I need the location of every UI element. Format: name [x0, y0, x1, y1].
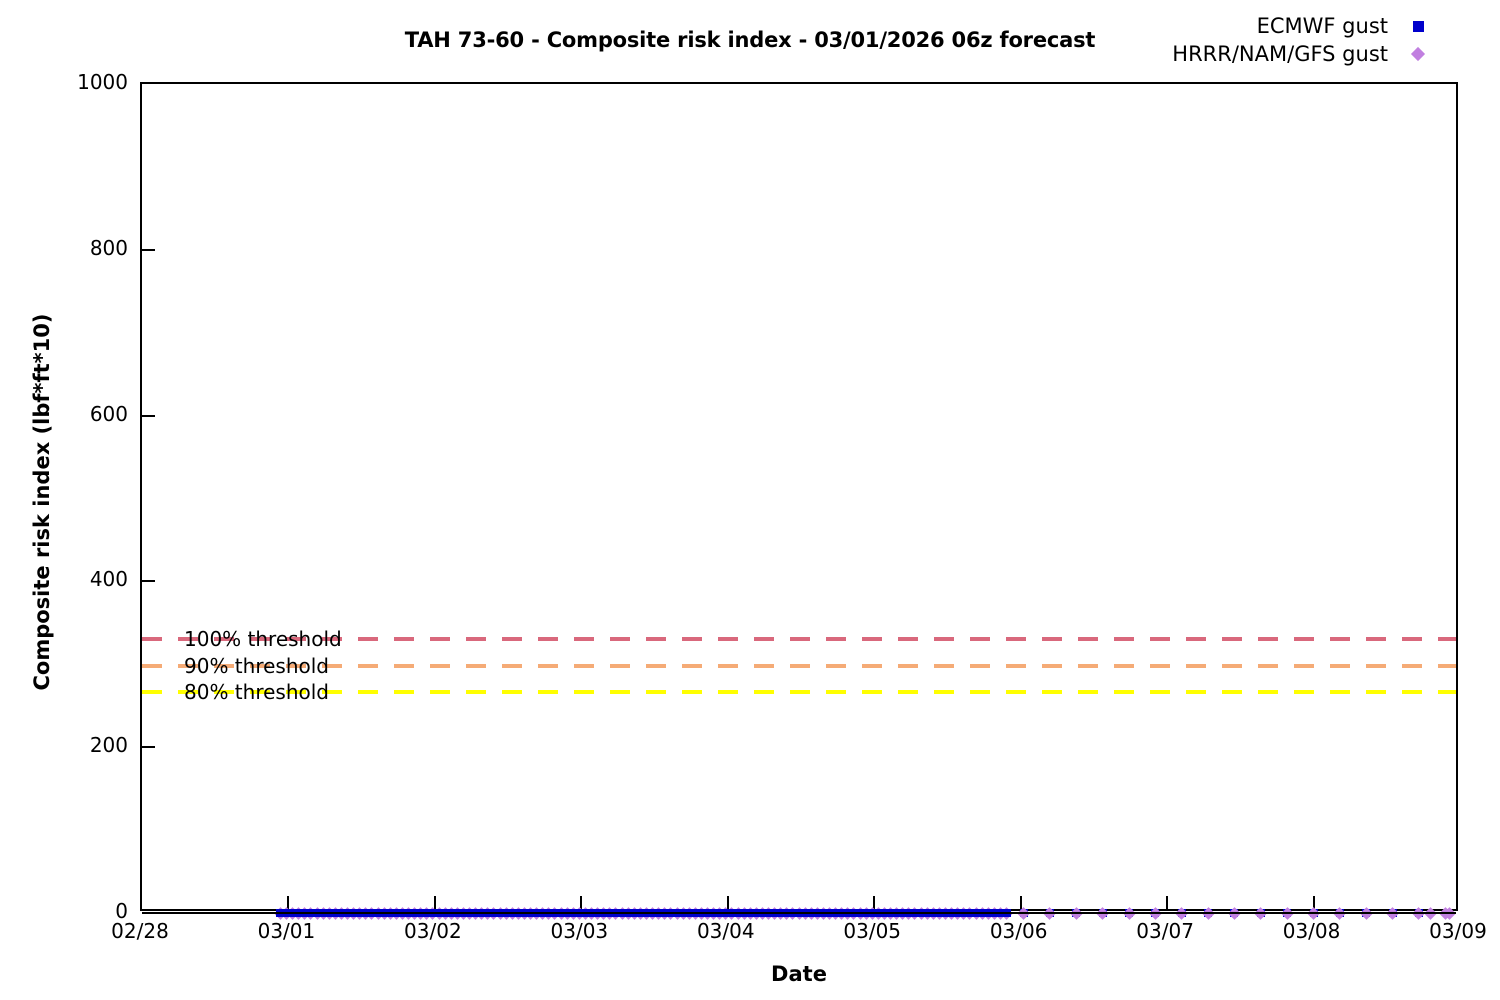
data-point-diamond	[738, 907, 751, 920]
data-point-square	[819, 909, 827, 917]
data-point-diamond	[799, 907, 812, 920]
x-axis-tick-mark	[1020, 896, 1022, 909]
data-point-square	[575, 909, 583, 917]
data-point-square	[1283, 909, 1291, 917]
data-point-diamond	[640, 907, 653, 920]
data-point-diamond	[695, 907, 708, 920]
data-point-diamond	[323, 907, 336, 920]
data-point-diamond	[896, 907, 909, 920]
data-point-diamond	[774, 907, 787, 920]
data-point-square	[508, 909, 516, 917]
data-point-diamond	[811, 907, 824, 920]
baseline-axis	[142, 912, 1456, 914]
data-point-square	[520, 909, 528, 917]
y-axis-tick-label: 600	[8, 402, 128, 426]
data-point-diamond	[817, 907, 830, 920]
legend-entry-hrrr-nam-gfs-gust: HRRR/NAM/GFS gust	[1172, 40, 1448, 68]
data-point-square	[771, 909, 779, 917]
data-point-diamond	[994, 907, 1007, 920]
data-point-diamond	[616, 907, 629, 920]
legend-swatch-hrrr-nam-gfs-gust	[1388, 49, 1448, 59]
data-point-square	[502, 909, 510, 917]
data-point-square	[581, 909, 589, 917]
data-point-diamond	[372, 907, 385, 920]
data-point-square	[948, 909, 956, 917]
data-point-square	[740, 909, 748, 917]
data-point-diamond	[884, 907, 897, 920]
data-point-diamond	[964, 907, 977, 920]
data-point-square	[667, 909, 675, 917]
data-point-diamond	[835, 907, 848, 920]
data-point-diamond	[597, 907, 610, 920]
data-point-diamond	[768, 907, 781, 920]
data-point-square	[874, 909, 882, 917]
data-point-square	[954, 909, 962, 917]
data-point-square	[1020, 909, 1028, 917]
data-point-diamond	[567, 907, 580, 920]
data-point-square	[655, 909, 663, 917]
data-point-square	[466, 909, 474, 917]
data-point-square	[459, 909, 467, 917]
y-axis-tick-label: 800	[8, 236, 128, 260]
data-point-diamond	[927, 907, 940, 920]
chart-figure: TAH 73-60 - Composite risk index - 03/01…	[0, 0, 1500, 1000]
data-point-square	[307, 909, 315, 917]
chart-legend: ECMWF gust HRRR/NAM/GFS gust	[1172, 12, 1448, 68]
data-point-diamond	[604, 907, 617, 920]
data-point-square	[1125, 909, 1133, 917]
data-point-diamond	[1228, 907, 1241, 920]
data-point-diamond	[793, 907, 806, 920]
data-point-square	[679, 909, 687, 917]
data-point-square	[344, 909, 352, 917]
data-point-diamond	[555, 907, 568, 920]
data-point-square	[868, 909, 876, 917]
data-point-square	[417, 909, 425, 917]
data-point-diamond	[469, 907, 482, 920]
data-point-diamond	[524, 907, 537, 920]
data-point-diamond	[445, 907, 458, 920]
data-point-diamond	[1413, 907, 1426, 920]
data-point-square	[1389, 909, 1397, 917]
x-axis-label: Date	[140, 962, 1458, 986]
data-point-diamond	[976, 907, 989, 920]
data-point-square	[545, 909, 553, 917]
x-axis-tick-mark	[1313, 896, 1315, 909]
data-point-square	[1257, 909, 1265, 917]
data-point-square	[880, 909, 888, 917]
data-point-square	[636, 909, 644, 917]
threshold-line	[142, 690, 1456, 694]
data-point-diamond	[591, 907, 604, 920]
y-axis-tick-mark	[142, 249, 155, 251]
data-point-diamond	[689, 907, 702, 920]
data-point-square	[490, 909, 498, 917]
data-point-square	[630, 909, 638, 917]
data-point-square	[899, 909, 907, 917]
data-point-diamond	[933, 907, 946, 920]
data-point-square	[453, 909, 461, 917]
data-point-square	[514, 909, 522, 917]
data-point-square	[777, 909, 785, 917]
data-point-square	[612, 909, 620, 917]
data-point-square	[374, 909, 382, 917]
data-point-square	[472, 909, 480, 917]
data-point-square	[643, 909, 651, 917]
data-point-square	[289, 909, 297, 917]
data-point-diamond	[1096, 907, 1109, 920]
data-point-diamond	[494, 907, 507, 920]
y-axis-tick-mark	[142, 415, 155, 417]
data-point-square	[588, 909, 596, 917]
threshold-line	[142, 664, 1456, 668]
data-point-diamond	[622, 907, 635, 920]
data-point-diamond	[634, 907, 647, 920]
y-axis-tick-label: 200	[8, 733, 128, 757]
square-marker-icon	[1413, 21, 1424, 32]
data-point-diamond	[939, 907, 952, 920]
data-point-square	[606, 909, 614, 917]
data-point-diamond	[1443, 907, 1456, 920]
data-point-square	[1204, 909, 1212, 917]
data-point-diamond	[536, 907, 549, 920]
data-point-diamond	[542, 907, 555, 920]
data-point-diamond	[1360, 907, 1373, 920]
data-point-square	[826, 909, 834, 917]
data-point-diamond	[390, 907, 403, 920]
data-point-square	[618, 909, 626, 917]
data-point-square	[734, 909, 742, 917]
data-point-square	[1362, 909, 1370, 917]
data-point-square	[1003, 909, 1011, 917]
data-point-diamond	[585, 907, 598, 920]
data-point-diamond	[1334, 907, 1347, 920]
x-axis-tick-mark	[1166, 896, 1168, 909]
data-point-diamond	[384, 907, 397, 920]
data-point-square	[789, 909, 797, 917]
data-point-square	[276, 909, 284, 917]
data-point-diamond	[506, 907, 519, 920]
data-point-diamond	[957, 907, 970, 920]
data-point-square	[801, 909, 809, 917]
data-point-diamond	[909, 907, 922, 920]
data-point-diamond	[341, 907, 354, 920]
data-point-square	[435, 909, 443, 917]
data-point-square	[966, 909, 974, 917]
data-point-diamond	[762, 907, 775, 920]
legend-entry-ecmwf-gust: ECMWF gust	[1172, 12, 1448, 40]
data-point-square	[1151, 909, 1159, 917]
data-point-diamond	[549, 907, 562, 920]
data-point-diamond	[1175, 907, 1188, 920]
data-point-diamond	[713, 907, 726, 920]
data-point-square	[935, 909, 943, 917]
data-point-square	[313, 909, 321, 917]
data-point-diamond	[677, 907, 690, 920]
data-point-diamond	[481, 907, 494, 920]
data-point-diamond	[823, 907, 836, 920]
data-point-square	[984, 909, 992, 917]
data-point-diamond	[1281, 907, 1294, 920]
x-axis-tick-label: 03/04	[656, 919, 796, 943]
data-point-square	[649, 909, 657, 917]
data-point-square	[728, 909, 736, 917]
data-point-square	[1178, 909, 1186, 917]
data-point-square	[990, 909, 998, 917]
data-point-diamond	[408, 907, 421, 920]
data-point-square	[557, 909, 565, 917]
data-point-square	[813, 909, 821, 917]
threshold-label: 100% threshold	[184, 627, 342, 651]
data-point-diamond	[512, 907, 525, 920]
data-point-diamond	[628, 907, 641, 920]
data-point-diamond	[787, 907, 800, 920]
x-axis-tick-mark	[580, 896, 582, 909]
x-axis-tick-label: 03/08	[1242, 919, 1382, 943]
data-point-square	[563, 909, 571, 917]
data-point-square	[301, 909, 309, 917]
data-point-diamond	[951, 907, 964, 920]
data-point-square	[319, 909, 327, 917]
data-point-diamond	[518, 907, 531, 920]
data-point-square	[722, 909, 730, 917]
data-point-square	[850, 909, 858, 917]
data-point-diamond	[921, 907, 934, 920]
data-point-diamond	[274, 907, 287, 920]
data-point-diamond	[439, 907, 452, 920]
data-point-diamond	[1123, 907, 1136, 920]
data-point-diamond	[829, 907, 842, 920]
y-axis-tick-label: 1000	[8, 70, 128, 94]
data-point-square	[1336, 909, 1344, 917]
data-point-diamond	[780, 907, 793, 920]
data-point-square	[923, 909, 931, 917]
x-axis-tick-label: 02/28	[70, 919, 210, 943]
data-point-square	[386, 909, 394, 917]
data-point-diamond	[305, 907, 318, 920]
y-axis-tick-label: 400	[8, 567, 128, 591]
data-point-diamond	[890, 907, 903, 920]
data-point-diamond	[878, 907, 891, 920]
data-point-diamond	[1424, 907, 1437, 920]
x-axis-tick-mark	[287, 896, 289, 909]
data-point-square	[423, 909, 431, 917]
data-point-square	[441, 909, 449, 917]
data-point-diamond	[841, 907, 854, 920]
plot-area: 100% threshold90% threshold80% threshold	[140, 82, 1458, 911]
data-point-square	[295, 909, 303, 917]
x-axis-tick-label: 03/02	[363, 919, 503, 943]
data-point-square	[704, 909, 712, 917]
data-point-square	[838, 909, 846, 917]
x-axis-tick-mark	[434, 896, 436, 909]
data-point-square	[368, 909, 376, 917]
data-point-diamond	[1202, 907, 1215, 920]
data-point-diamond	[646, 907, 659, 920]
data-point-diamond	[988, 907, 1001, 920]
threshold-label: 90% threshold	[184, 654, 329, 678]
data-point-square	[624, 909, 632, 917]
data-point-square	[996, 909, 1004, 917]
data-point-diamond	[652, 907, 665, 920]
legend-label-hrrr-nam-gfs-gust: HRRR/NAM/GFS gust	[1172, 42, 1388, 66]
data-point-square	[746, 909, 754, 917]
data-point-square	[893, 909, 901, 917]
data-point-square	[941, 909, 949, 917]
data-point-diamond	[335, 907, 348, 920]
data-point-square	[844, 909, 852, 917]
data-point-square	[691, 909, 699, 917]
data-point-diamond	[1000, 907, 1013, 920]
data-point-square	[887, 909, 895, 917]
data-point-diamond	[402, 907, 415, 920]
data-point-square	[447, 909, 455, 917]
x-axis-tick-label: 03/05	[802, 919, 942, 943]
data-point-square	[411, 909, 419, 917]
data-point-square	[697, 909, 705, 917]
data-point-square	[1310, 909, 1318, 917]
data-point-diamond	[1254, 907, 1267, 920]
threshold-label: 80% threshold	[184, 680, 329, 704]
data-marker-layer	[142, 84, 1456, 909]
y-axis-tick-mark	[142, 580, 155, 582]
data-point-square	[978, 909, 986, 917]
data-point-diamond	[756, 907, 769, 920]
data-point-square	[972, 909, 980, 917]
data-point-diamond	[311, 907, 324, 920]
data-point-square	[594, 909, 602, 917]
data-point-square	[398, 909, 406, 917]
data-point-square	[856, 909, 864, 917]
data-point-diamond	[292, 907, 305, 920]
data-point-square	[911, 909, 919, 917]
data-point-diamond	[451, 907, 464, 920]
data-point-square	[350, 909, 358, 917]
data-point-diamond	[1044, 907, 1057, 920]
data-point-square	[673, 909, 681, 917]
data-point-square	[862, 909, 870, 917]
x-axis-tick-label: 03/07	[1095, 919, 1235, 943]
data-point-square	[1046, 909, 1054, 917]
data-point-square	[478, 909, 486, 917]
data-point-square	[356, 909, 364, 917]
data-point-diamond	[561, 907, 574, 920]
data-point-square	[905, 909, 913, 917]
data-point-square	[551, 909, 559, 917]
data-point-square	[533, 909, 541, 917]
data-point-square	[807, 909, 815, 917]
x-axis-tick-label: 03/01	[216, 919, 356, 943]
legend-swatch-ecmwf-gust	[1388, 21, 1448, 32]
data-point-diamond	[1149, 907, 1162, 920]
data-point-square	[929, 909, 937, 917]
data-point-square	[429, 909, 437, 917]
data-point-diamond	[750, 907, 763, 920]
data-point-diamond	[903, 907, 916, 920]
y-axis-label: Composite risk index (lbf*ft*10)	[30, 222, 54, 782]
data-point-diamond	[805, 907, 818, 920]
data-point-diamond	[683, 907, 696, 920]
data-point-diamond	[701, 907, 714, 920]
data-point-diamond	[610, 907, 623, 920]
data-point-square	[1230, 909, 1238, 917]
legend-label-ecmwf-gust: ECMWF gust	[1257, 14, 1388, 38]
data-point-square	[783, 909, 791, 917]
data-point-diamond	[298, 907, 311, 920]
diamond-marker-icon	[1411, 47, 1425, 61]
data-point-diamond	[982, 907, 995, 920]
data-point-diamond	[530, 907, 543, 920]
data-point-square	[661, 909, 669, 917]
data-point-diamond	[665, 907, 678, 920]
data-point-diamond	[353, 907, 366, 920]
x-axis-tick-label: 03/09	[1388, 919, 1500, 943]
data-point-square	[527, 909, 535, 917]
y-axis-tick-mark	[142, 746, 155, 748]
x-axis-tick-label: 03/06	[949, 919, 1089, 943]
data-point-diamond	[317, 907, 330, 920]
data-point-diamond	[707, 907, 720, 920]
data-point-diamond	[732, 907, 745, 920]
data-point-square	[569, 909, 577, 917]
data-point-diamond	[457, 907, 470, 920]
data-point-square	[484, 909, 492, 917]
data-point-diamond	[329, 907, 342, 920]
data-point-diamond	[854, 907, 867, 920]
data-point-diamond	[848, 907, 861, 920]
data-point-diamond	[396, 907, 409, 920]
data-point-square	[331, 909, 339, 917]
data-point-square	[917, 909, 925, 917]
data-point-square	[832, 909, 840, 917]
data-point-square	[795, 909, 803, 917]
data-point-diamond	[970, 907, 983, 920]
data-point-diamond	[1439, 907, 1452, 920]
data-point-diamond	[463, 907, 476, 920]
data-point-square	[539, 909, 547, 917]
data-point-diamond	[500, 907, 513, 920]
data-point-square	[765, 909, 773, 917]
data-point-square	[392, 909, 400, 917]
data-point-diamond	[347, 907, 360, 920]
data-point-square	[758, 909, 766, 917]
data-point-square	[362, 909, 370, 917]
data-point-diamond	[414, 907, 427, 920]
data-point-diamond	[366, 907, 379, 920]
data-point-square	[496, 909, 504, 917]
data-point-diamond	[359, 907, 372, 920]
data-point-square	[710, 909, 718, 917]
data-point-diamond	[671, 907, 684, 920]
data-point-square	[1415, 909, 1423, 917]
data-point-diamond	[658, 907, 671, 920]
data-point-square	[1072, 909, 1080, 917]
data-point-diamond	[378, 907, 391, 920]
x-axis-tick-label: 03/03	[509, 919, 649, 943]
x-axis-tick-mark	[873, 896, 875, 909]
data-point-square	[380, 909, 388, 917]
data-point-square	[752, 909, 760, 917]
data-point-diamond	[744, 907, 757, 920]
data-point-square	[716, 909, 724, 917]
data-point-diamond	[420, 907, 433, 920]
data-point-diamond	[860, 907, 873, 920]
data-point-diamond	[488, 907, 501, 920]
data-point-square	[282, 909, 290, 917]
data-point-square	[960, 909, 968, 917]
data-point-square	[337, 909, 345, 917]
data-point-diamond	[475, 907, 488, 920]
